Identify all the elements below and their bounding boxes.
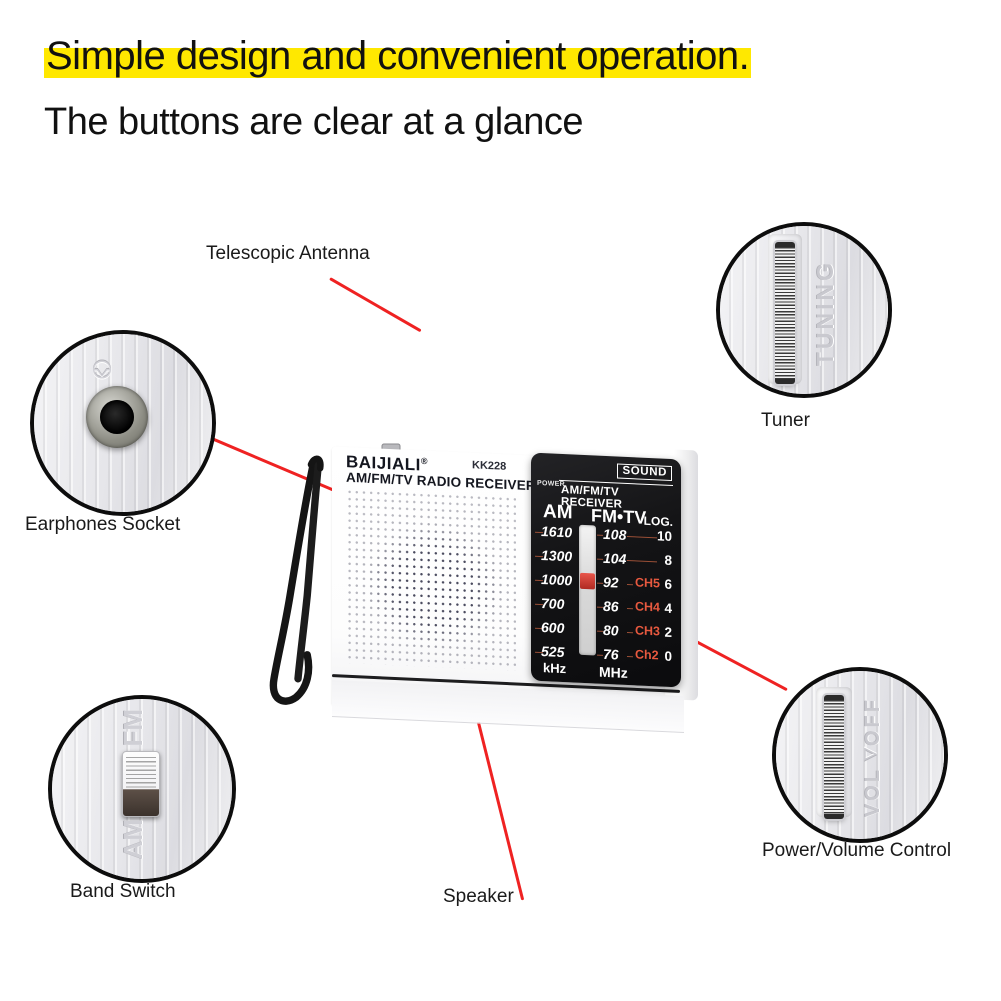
- dial-value-fm: 86: [603, 598, 619, 615]
- volume-wheel[interactable]: [824, 695, 844, 819]
- callout-label-speaker: Speaker: [443, 886, 514, 908]
- dial-value-fm: 76: [603, 646, 619, 663]
- callout-label-tuner: Tuner: [761, 410, 810, 432]
- band-label-am: AM: [118, 819, 149, 859]
- volume-closeup: OFF ◁ VOL: [776, 671, 944, 839]
- dial-value-channel: Ch2: [635, 647, 659, 662]
- dial-value-fm: 108: [603, 526, 626, 543]
- detail-circle-earphones-socket: ⎉: [30, 330, 216, 516]
- dial-value-fm: 80: [603, 622, 619, 639]
- dial-value-am: 1000: [541, 571, 572, 588]
- dial-tick: [627, 560, 657, 562]
- dial-value-am: 700: [541, 595, 564, 612]
- page-title: Simple design and convenient operation.: [44, 34, 751, 78]
- dial-tick: [627, 536, 657, 538]
- dial-header-am: AM: [543, 501, 573, 524]
- dial-value-channel: CH3: [635, 623, 660, 638]
- dial-value-fm: 92: [603, 574, 619, 591]
- callout-label-earphones-socket: Earphones Socket: [25, 514, 180, 536]
- dial-tick: [627, 632, 633, 633]
- plastic-ribs-texture: [720, 226, 888, 394]
- unit-khz: kHz: [543, 660, 566, 676]
- tuning-wheel[interactable]: [775, 242, 795, 384]
- sound-badge: SOUND: [617, 464, 672, 481]
- volume-arrow-icon: ◁: [862, 743, 881, 765]
- dial-value-log: 6: [664, 577, 672, 592]
- dial-value-log: 2: [664, 625, 672, 640]
- page-title-highlight: Simple design and convenient operation.: [44, 34, 751, 78]
- unit-mhz: MHz: [599, 664, 628, 681]
- dial-tick: [627, 584, 633, 585]
- dial-value-log: 0: [664, 649, 672, 664]
- registered-mark: ®: [421, 456, 428, 466]
- dial-value-channel: CH4: [635, 599, 660, 614]
- dial-value-am: 525: [541, 643, 564, 660]
- detail-circle-band-switch: FM AM: [48, 695, 236, 883]
- leader-line-antenna: [329, 277, 421, 332]
- dial-value-log: 4: [664, 601, 672, 616]
- earphones-socket-closeup: ⎉: [34, 334, 212, 512]
- tuner-closeup: TUNING: [720, 226, 888, 394]
- dial-value-log: 10: [657, 528, 672, 544]
- volume-label-vol: VOL: [862, 767, 885, 817]
- tuning-dial-panel: SOUND POWER AM/FM/TV RECEIVER AM FM•TV L…: [531, 453, 681, 688]
- dial-header-log: LOG.: [644, 514, 673, 529]
- plastic-ribs-texture: [776, 671, 944, 839]
- detail-circle-power-volume: OFF ◁ VOL: [772, 667, 948, 843]
- callout-label-power-volume: Power/Volume Control: [762, 840, 951, 862]
- volume-label-off: OFF: [862, 697, 885, 746]
- infographic-canvas: Simple design and convenient operation. …: [0, 0, 1001, 1001]
- model-number: KK228: [472, 459, 506, 473]
- band-switch-slider[interactable]: [122, 751, 160, 817]
- dial-scale-row: 100092CH56: [531, 571, 681, 594]
- dial-scale-row: 60080CH32: [531, 619, 681, 642]
- band-switch-closeup: FM AM: [52, 699, 232, 879]
- callout-label-telescopic-antenna: Telescopic Antenna: [206, 243, 370, 265]
- speaker-grille: [346, 488, 516, 671]
- dial-scale-row: 70086CH44: [531, 595, 681, 618]
- tuning-wheel-label: TUNING: [812, 260, 839, 366]
- dial-value-am: 1300: [541, 547, 572, 564]
- dial-value-fm: 104: [603, 550, 626, 567]
- dial-scale-row: 13001048: [531, 547, 681, 570]
- dial-value-am: 1610: [541, 523, 572, 540]
- radio-product: BAIJIALI® KK228 AM/FM/TV RADIO RECEIVER …: [250, 430, 720, 750]
- dial-value-am: 600: [541, 619, 564, 636]
- earphone-jack-hole[interactable]: [100, 400, 134, 434]
- callout-label-band-switch: Band Switch: [70, 881, 176, 903]
- headphone-icon: ⎉: [90, 352, 114, 386]
- detail-circle-tuner: TUNING: [716, 222, 892, 398]
- dial-value-log: 8: [664, 553, 672, 568]
- band-label-fm: FM: [118, 709, 149, 747]
- dial-tick: [627, 656, 633, 657]
- dial-value-channel: CH5: [635, 575, 660, 590]
- dial-tick: [627, 608, 633, 609]
- page-subtitle: The buttons are clear at a glance: [44, 100, 583, 144]
